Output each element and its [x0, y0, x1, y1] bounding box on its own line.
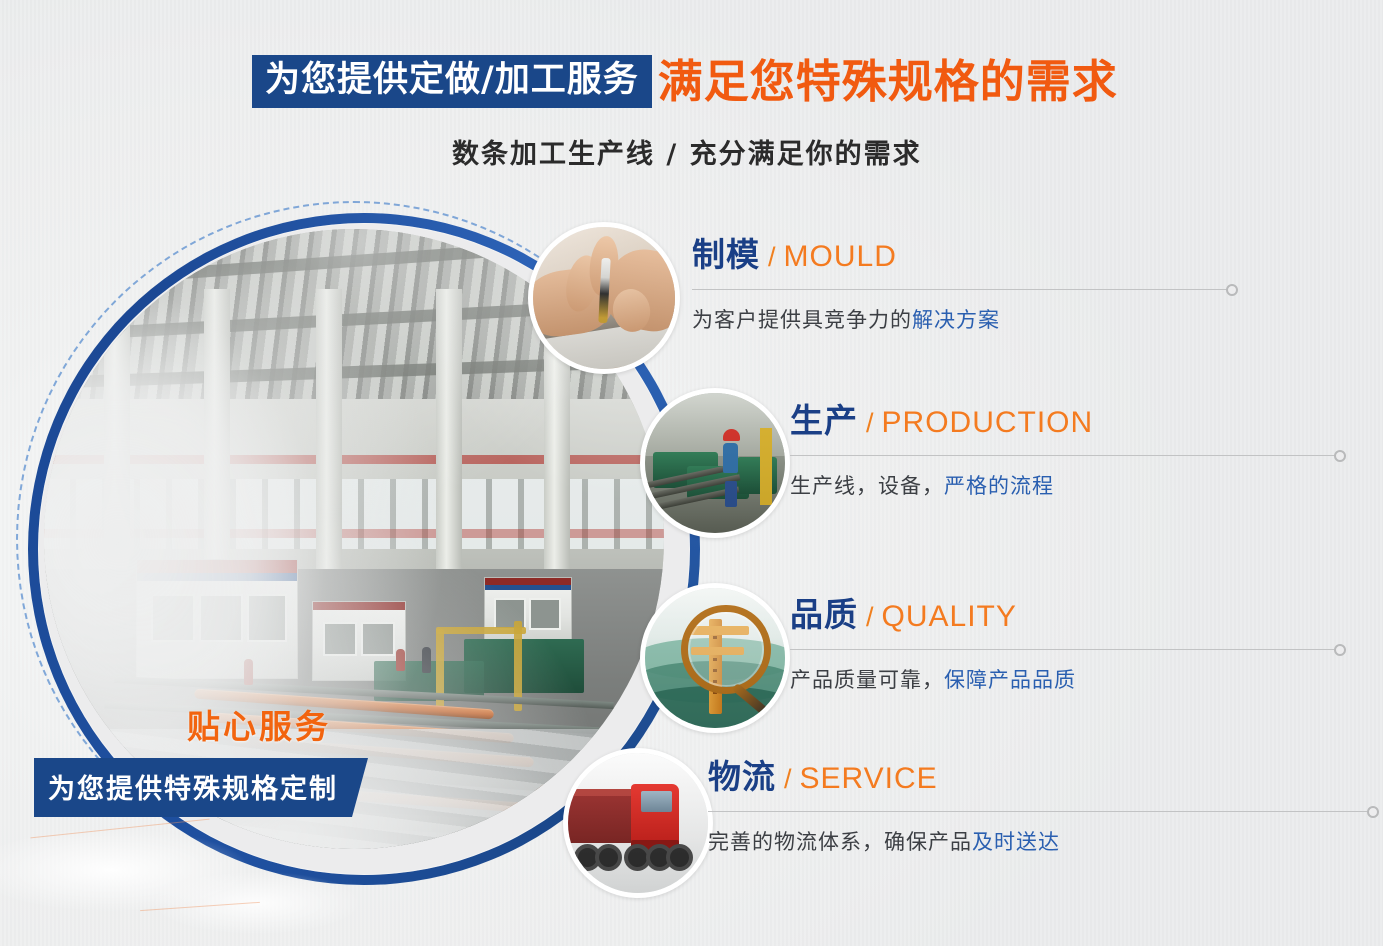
header-subtitle: 数条加工生产线 / 充分满足你的需求 [452, 132, 922, 171]
mould-description-plain: 为客户提供具竞争力的 [692, 308, 912, 332]
header-headline: 满足您特殊规格的需求 [658, 59, 1118, 104]
quality-heading-cn: 品质 [790, 598, 858, 631]
production-description-plain: 生产线，设备， [790, 474, 944, 498]
service-description: 完善的物流体系，确保产品及时送达 [708, 826, 1368, 856]
quality-heading-slash: / [866, 604, 874, 631]
quality-divider [790, 649, 1335, 650]
production-heading-en: PRODUCTION [882, 408, 1094, 438]
service-description-plain: 完善的物流体系，确保产品 [708, 830, 972, 854]
quality-thumbnail [640, 583, 790, 733]
service-thumbnail [563, 748, 713, 898]
production-divider [790, 455, 1335, 456]
mould-thumbnail [528, 222, 680, 374]
service-heading: 物流 / SERVICE [708, 760, 1368, 794]
production-heading-cn: 生产 [790, 404, 858, 437]
mould-heading-en: MOULD [784, 242, 897, 272]
mould-heading-slash: / [768, 244, 776, 271]
endpoint-dot-icon [1334, 644, 1346, 656]
endpoint-dot-icon [1367, 806, 1379, 818]
mould-heading-cn: 制模 [692, 238, 760, 271]
service-divider [708, 811, 1368, 812]
mould-divider [692, 289, 1227, 290]
quality-description-highlight: 保障产品品质 [944, 668, 1076, 692]
quality-description-plain: 产品质量可靠， [790, 668, 944, 692]
quality-heading-en: QUALITY [882, 602, 1017, 632]
quality-description: 产品质量可靠，保障产品品质 [790, 664, 1335, 694]
production-heading: 生产 / PRODUCTION [790, 404, 1335, 438]
promo-banner: 为您提供定做/加工服务 满足您特殊规格的需求 数条加工生产线 / 充分满足你的需… [0, 0, 1383, 946]
service-badge-title: 贴心服务 [144, 700, 374, 748]
title-row: 为您提供定做/加工服务 满足您特殊规格的需求 [252, 55, 1118, 108]
service-heading-cn: 物流 [708, 760, 776, 793]
production-description-highlight: 严格的流程 [944, 474, 1054, 498]
service-heading-en: SERVICE [800, 764, 938, 794]
service-heading-slash: / [784, 766, 792, 793]
service-badge: 贴心服务 为您提供特殊规格定制 [34, 700, 374, 817]
endpoint-dot-icon [1334, 450, 1346, 462]
production-heading-slash: / [866, 410, 874, 437]
header-badge-label: 为您提供定做/加工服务 [252, 55, 652, 108]
service-badge-bar: 为您提供特殊规格定制 [34, 758, 368, 817]
quality-heading: 品质 / QUALITY [790, 598, 1335, 632]
production-description: 生产线，设备，严格的流程 [790, 470, 1335, 500]
mould-description-highlight: 解决方案 [912, 308, 1000, 332]
mould-description: 为客户提供具竞争力的解决方案 [692, 304, 1227, 334]
service-description-highlight: 及时送达 [972, 830, 1060, 854]
mould-heading: 制模 / MOULD [692, 238, 1227, 272]
endpoint-dot-icon [1226, 284, 1238, 296]
production-thumbnail [640, 388, 790, 538]
